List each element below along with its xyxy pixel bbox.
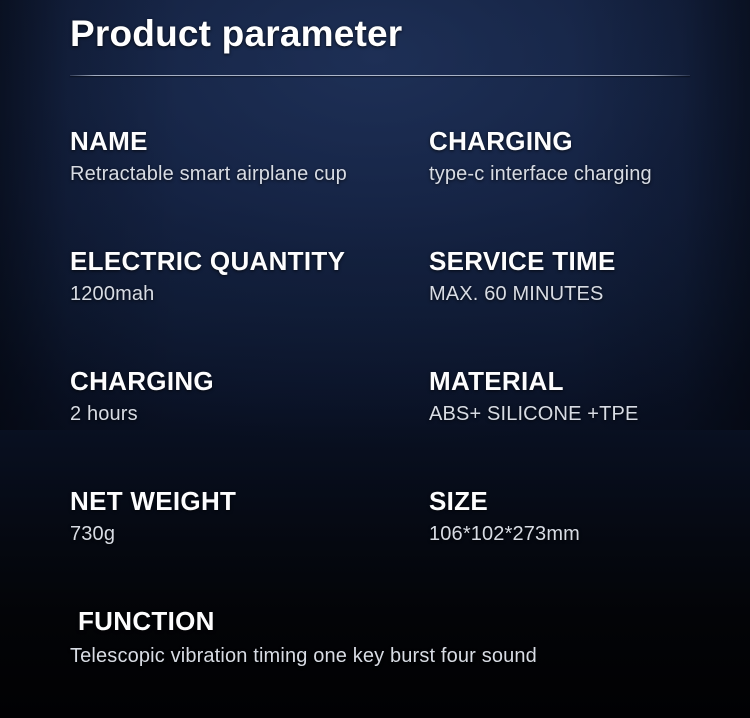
spec-grid: NAME Retractable smart airplane cup CHAR… — [0, 128, 750, 608]
spec-label: SIZE — [429, 488, 729, 514]
spec-row: NAME Retractable smart airplane cup CHAR… — [0, 128, 750, 248]
spec-item-service-time: SERVICE TIME MAX. 60 MINUTES — [429, 248, 729, 306]
spec-value: type-c interface charging — [429, 163, 729, 186]
spec-item-name: NAME Retractable smart airplane cup — [70, 128, 420, 186]
spec-row: CHARGING 2 hours MATERIAL ABS+ SILICONE … — [0, 368, 750, 488]
spec-item-size: SIZE 106*102*273mm — [429, 488, 729, 546]
spec-row: NET WEIGHT 730g SIZE 106*102*273mm — [0, 488, 750, 608]
spec-value: Retractable smart airplane cup — [70, 163, 420, 186]
spec-value: 730g — [70, 523, 420, 546]
page-title: Product parameter — [70, 13, 402, 55]
spec-label: CHARGING — [429, 128, 729, 154]
spec-item-charging-interface: CHARGING type-c interface charging — [429, 128, 729, 186]
spec-item-electric-quantity: ELECTRIC QUANTITY 1200mah — [70, 248, 420, 306]
spec-value: ABS+ SILICONE +TPE — [429, 403, 729, 426]
spec-label: CHARGING — [70, 368, 420, 394]
spec-value: 106*102*273mm — [429, 523, 729, 546]
spec-item-charging-time: CHARGING 2 hours — [70, 368, 420, 426]
spec-label: FUNCTION — [78, 608, 750, 634]
spec-value: 1200mah — [70, 283, 420, 306]
spec-value: MAX. 60 MINUTES — [429, 283, 729, 306]
spec-value: Telescopic vibration timing one key burs… — [70, 645, 750, 668]
spec-item-material: MATERIAL ABS+ SILICONE +TPE — [429, 368, 729, 426]
spec-label: NET WEIGHT — [70, 488, 420, 514]
spec-row: ELECTRIC QUANTITY 1200mah SERVICE TIME M… — [0, 248, 750, 368]
spec-item-function: FUNCTION Telescopic vibration timing one… — [0, 608, 750, 668]
title-divider — [70, 75, 690, 76]
spec-label: SERVICE TIME — [429, 248, 729, 274]
product-parameter-sheet: Product parameter NAME Retractable smart… — [0, 0, 750, 718]
spec-label: MATERIAL — [429, 368, 729, 394]
spec-label: ELECTRIC QUANTITY — [70, 248, 420, 274]
spec-value: 2 hours — [70, 403, 420, 426]
spec-item-net-weight: NET WEIGHT 730g — [70, 488, 420, 546]
spec-label: NAME — [70, 128, 420, 154]
